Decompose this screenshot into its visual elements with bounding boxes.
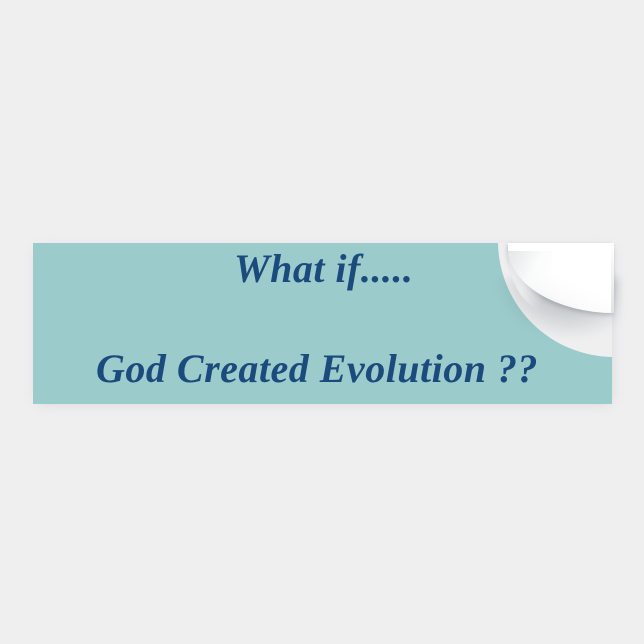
curl-edge-highlight	[611, 243, 614, 313]
sticker-preview-canvas: What if..... God Created Evolution ??	[0, 0, 644, 644]
